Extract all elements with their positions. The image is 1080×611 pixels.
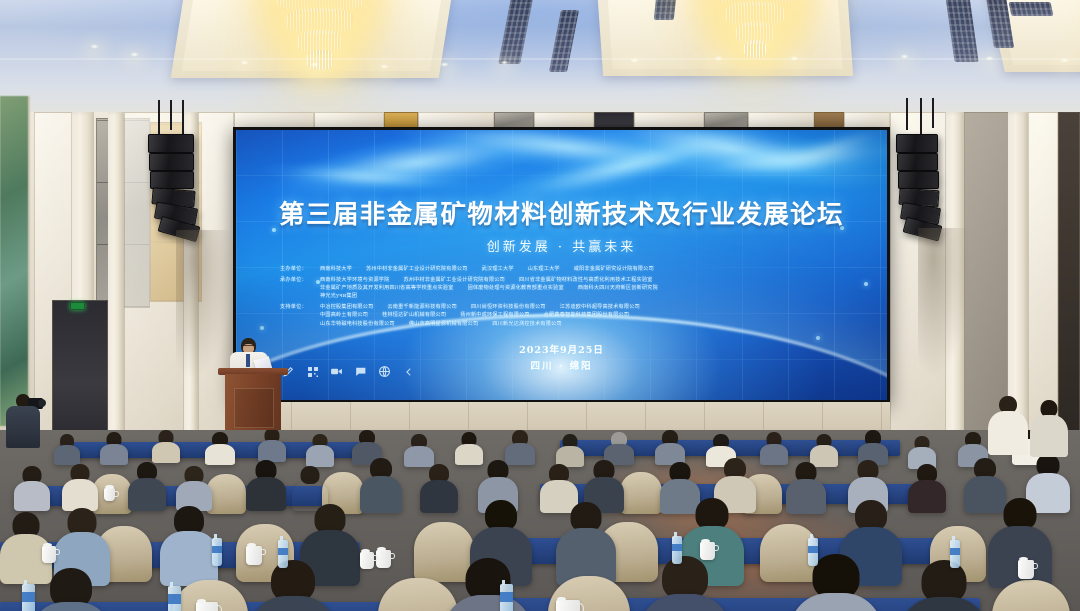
attendee <box>176 466 212 510</box>
attendee <box>655 430 685 464</box>
attendee <box>900 560 988 611</box>
ceiling-vent-slot <box>1009 2 1054 16</box>
standing-attendee <box>1030 400 1068 454</box>
attendee <box>152 430 180 462</box>
organizer-names: 西南科技大学苏州中材非金属矿工业设计研究院有限公司武汉理工大学山东理工大学咸阳非… <box>320 265 859 273</box>
water-bottle <box>212 538 222 566</box>
water-bottle <box>168 586 181 611</box>
lanyard <box>246 354 250 367</box>
organizer-name: 扬州新中成环保工程有限公司 <box>460 312 529 318</box>
organizer-name: 中冶控股集团有限公司 <box>320 304 373 310</box>
attendee <box>258 430 286 460</box>
attendee <box>444 558 532 611</box>
video-camera-icon[interactable] <box>330 365 343 378</box>
attendee <box>556 434 584 466</box>
speaker-wall-shadow <box>918 228 970 378</box>
organizer-name: 神光光учи集团 <box>320 293 357 299</box>
attendee <box>128 462 166 510</box>
teacup <box>246 546 262 565</box>
wall-panel <box>964 112 1008 442</box>
water-bottle <box>22 584 35 611</box>
water-bottle <box>950 540 960 568</box>
water-bottle <box>500 584 513 611</box>
attendee <box>54 434 80 464</box>
comment-icon[interactable] <box>354 365 367 378</box>
organizer-name: 苏州中材非金属矿工业设计研究院有限公司 <box>403 277 505 283</box>
organizer-name: 武汉理工大学 <box>482 266 514 272</box>
water-bottle <box>278 540 288 568</box>
organizer-block: 主办单位：西南科技大学苏州中材非金属矿工业设计研究院有限公司武汉理工大学山东理工… <box>280 265 859 331</box>
wall-pilaster <box>108 112 124 442</box>
organizer-name: 非金属矿产地质及其开发利用四川省高等学校重点实验室 <box>320 285 454 291</box>
attendee <box>760 432 788 464</box>
ceiling-vent-slot <box>654 0 677 20</box>
attendee <box>858 430 888 464</box>
attendee <box>30 568 112 611</box>
attendee <box>908 464 946 512</box>
organizer-row: 主办单位：西南科技大学苏州中材非金属矿工业设计研究院有限公司武汉理工大学山东理工… <box>280 265 859 273</box>
organizer-name: 咸阳非金属矿研究设计院有限公司 <box>574 266 654 272</box>
water-bottle <box>672 536 682 564</box>
globe-icon[interactable] <box>378 365 391 378</box>
organizer-line: 非金属矿产地质及其开发利用四川省高等学校重点实验室固体废物处理与资源化教育部重点… <box>320 284 859 292</box>
attendee <box>306 434 334 466</box>
teacup <box>556 600 580 611</box>
wall-panel <box>1028 112 1058 442</box>
organizer-name: 佛山市高明星源机械有限公司 <box>409 321 478 327</box>
attendee <box>786 462 826 512</box>
attendee <box>160 506 218 584</box>
teacup <box>1018 560 1034 579</box>
attendee <box>62 464 98 510</box>
organizer-names: 中冶控股集团有限公司云南重千新能源科技有限公司四川尚恒环资科技股份有限公司江苏迪… <box>320 303 859 327</box>
standing-attendee <box>988 396 1028 452</box>
wall-artwork-panel <box>0 96 30 426</box>
organizer-row: 承办单位：西南科技大学环境与资源学院苏州中材非金属矿工业设计研究院有限公司四川省… <box>280 276 859 300</box>
audience-area <box>0 430 1080 611</box>
attendee <box>250 560 336 611</box>
attendee <box>205 432 235 464</box>
organizer-line: 中冶控股集团有限公司云南重千新能源科技有限公司四川尚恒环资科技股份有限公司江苏迪… <box>320 303 859 311</box>
exit-sign-icon <box>70 302 85 310</box>
attendee <box>404 434 434 466</box>
organizer-name: 四川尚恒环资科技股份有限公司 <box>471 304 546 310</box>
attendee <box>790 554 882 611</box>
organizer-name: 四川新光达测控技术有限公司 <box>492 321 561 327</box>
qr-code-icon[interactable] <box>306 365 319 378</box>
conference-hall-photo: 第三届非金属矿物材料创新技术及行业发展论坛 创新发展 · 共赢未来 主办单位：西… <box>0 0 1080 611</box>
event-date: 2023年9月25日 <box>236 342 887 356</box>
attendee <box>505 430 535 464</box>
organizer-name: 山东华特磁电科技股份有限公司 <box>320 321 395 327</box>
doorway[interactable] <box>1058 112 1080 442</box>
chandelier <box>700 0 810 100</box>
chandelier <box>260 0 380 102</box>
organizer-line: 神光光учи集团 <box>320 292 859 300</box>
doorway[interactable] <box>52 300 108 440</box>
organizer-label: 主办单位： <box>280 265 320 273</box>
teacup <box>42 546 56 563</box>
organizer-row: 支持单位：中冶控股集团有限公司云南重千新能源科技有限公司四川尚恒环资科技股份有限… <box>280 303 859 327</box>
organizer-name: 苏州中材非金属矿工业设计研究院有限公司 <box>366 266 468 272</box>
attendee <box>360 458 402 512</box>
teacup <box>196 602 218 611</box>
organizer-name: 西南科技大学 <box>320 266 352 272</box>
wall-pilaster <box>1008 112 1028 442</box>
chair <box>620 472 662 514</box>
ceiling <box>0 0 1080 120</box>
teacup <box>700 542 715 560</box>
forum-title: 第三届非金属矿物材料创新技术及行业发展论坛 <box>236 194 887 231</box>
forum-subtitle: 创新发展 · 共赢未来 <box>236 236 887 255</box>
attendee <box>246 460 286 510</box>
speaker-wall-shadow <box>176 230 232 380</box>
led-screen-content: 第三届非金属矿物材料创新技术及行业发展论坛 创新发展 · 共赢未来 主办单位：西… <box>236 130 887 400</box>
attendee <box>556 502 616 584</box>
organizer-line: 西南科技大学苏州中材非金属矿工业设计研究院有限公司武汉理工大学山东理工大学咸阳非… <box>320 265 859 273</box>
organizer-name: 桂林恒达矿山机械有限公司 <box>382 312 446 318</box>
attendee <box>640 556 730 611</box>
attendee <box>14 466 50 510</box>
teacup <box>104 488 115 501</box>
chevron-left-icon[interactable] <box>402 365 415 378</box>
teacup <box>360 552 374 569</box>
attendee <box>100 432 128 464</box>
teacup <box>376 550 391 568</box>
organizer-name: 西南科大四川天府新区创新研究院 <box>578 285 658 291</box>
glasses-icon <box>242 345 255 348</box>
water-bottle <box>808 538 818 566</box>
organizer-name: 云南重千新能源科技有限公司 <box>387 304 456 310</box>
organizer-line: 西南科技大学环境与资源学院苏州中材非金属矿工业设计研究院有限公司四川省非金属矿物… <box>320 276 859 284</box>
organizer-label: 支持单位： <box>280 303 320 311</box>
photographer <box>4 390 50 448</box>
organizer-name: 山东理工大学 <box>528 266 560 272</box>
organizer-name: 固体废物处理与资源化教育部重点实验室 <box>468 285 564 291</box>
organizer-line: 山东华特磁电科技股份有限公司佛山市高明星源机械有限公司四川新光达测控技术有限公司 <box>320 320 859 328</box>
led-screen[interactable]: 第三届非金属矿物材料创新技术及行业发展论坛 创新发展 · 共赢未来 主办单位：西… <box>233 127 890 403</box>
organizer-name: 合肥鑫泰智能科技集团股份有限公司 <box>544 312 630 318</box>
organizer-name: 四川省非金属矿物材料改性与高质化利用技术工程实验室 <box>519 277 653 283</box>
attendee <box>420 464 458 512</box>
organizer-name: 中国高岭土有限公司 <box>320 312 368 318</box>
organizer-name: 江苏迪欧中科超导高技术有限公司 <box>560 304 640 310</box>
organizer-line: 中国高岭土有限公司桂林恒达矿山机械有限公司扬州新中成环保工程有限公司合肥鑫泰智能… <box>320 311 859 319</box>
organizer-label: 承办单位： <box>280 276 320 284</box>
organizer-names: 西南科技大学环境与资源学院苏州中材非金属矿工业设计研究院有限公司四川省非金属矿物… <box>320 276 859 300</box>
organizer-name: 西南科技大学环境与资源学院 <box>320 277 389 283</box>
